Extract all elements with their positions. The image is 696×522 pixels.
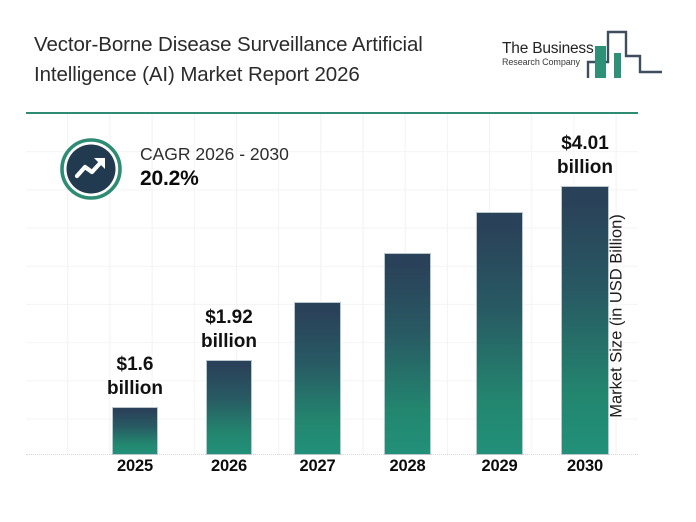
bar-value-unit: billion [557,156,613,180]
cagr-text-block: CAGR 2026 - 2030 20.2% [140,142,289,192]
bar-group [384,114,431,455]
y-axis-title-text: Market Size (in USD Billion) [608,214,627,418]
trending-up-arrow-icon [60,138,122,200]
bar-value-label: $4.01billion [557,132,613,180]
header: Vector-Borne Disease Surveillance Artifi… [0,0,696,108]
x-axis-ticks: 202520262027202820292030 [26,457,638,487]
x-axis-tick-2026: 2026 [206,457,252,476]
x-axis-tick-2025: 2025 [112,457,158,476]
bar-value-amount: $4.01 [557,132,613,156]
bar-value-label: $1.92billion [201,306,257,354]
page-title: Vector-Borne Disease Surveillance Artifi… [34,30,494,90]
bar-value-amount: $1.92 [201,306,257,330]
x-axis-tick-2028: 2028 [384,457,431,476]
y-axis-title: Market Size (in USD Billion) [604,182,630,450]
bar[interactable] [294,302,341,455]
bar[interactable] [476,212,523,455]
x-axis-tick-2030: 2030 [561,457,609,476]
bar-value-unit: billion [107,377,163,401]
bar[interactable] [384,253,431,455]
bar[interactable] [561,186,609,455]
cagr-value: 20.2% [140,166,289,192]
bar-group: $4.01billion [561,114,609,455]
bar[interactable] [206,360,252,455]
bar[interactable] [112,407,158,455]
x-axis-tick-2029: 2029 [476,457,523,476]
cagr-callout: CAGR 2026 - 2030 20.2% [60,138,340,210]
company-logo: The Business Research Company [498,26,666,88]
x-axis-tick-2027: 2027 [294,457,341,476]
bar-chart-skyline-icon [586,26,664,93]
bar-value-unit: billion [201,330,257,354]
bar-group [476,114,523,455]
bar-value-label: $1.6billion [107,353,163,401]
cagr-period-label: CAGR 2026 - 2030 [140,142,289,166]
bar-value-amount: $1.6 [107,353,163,377]
